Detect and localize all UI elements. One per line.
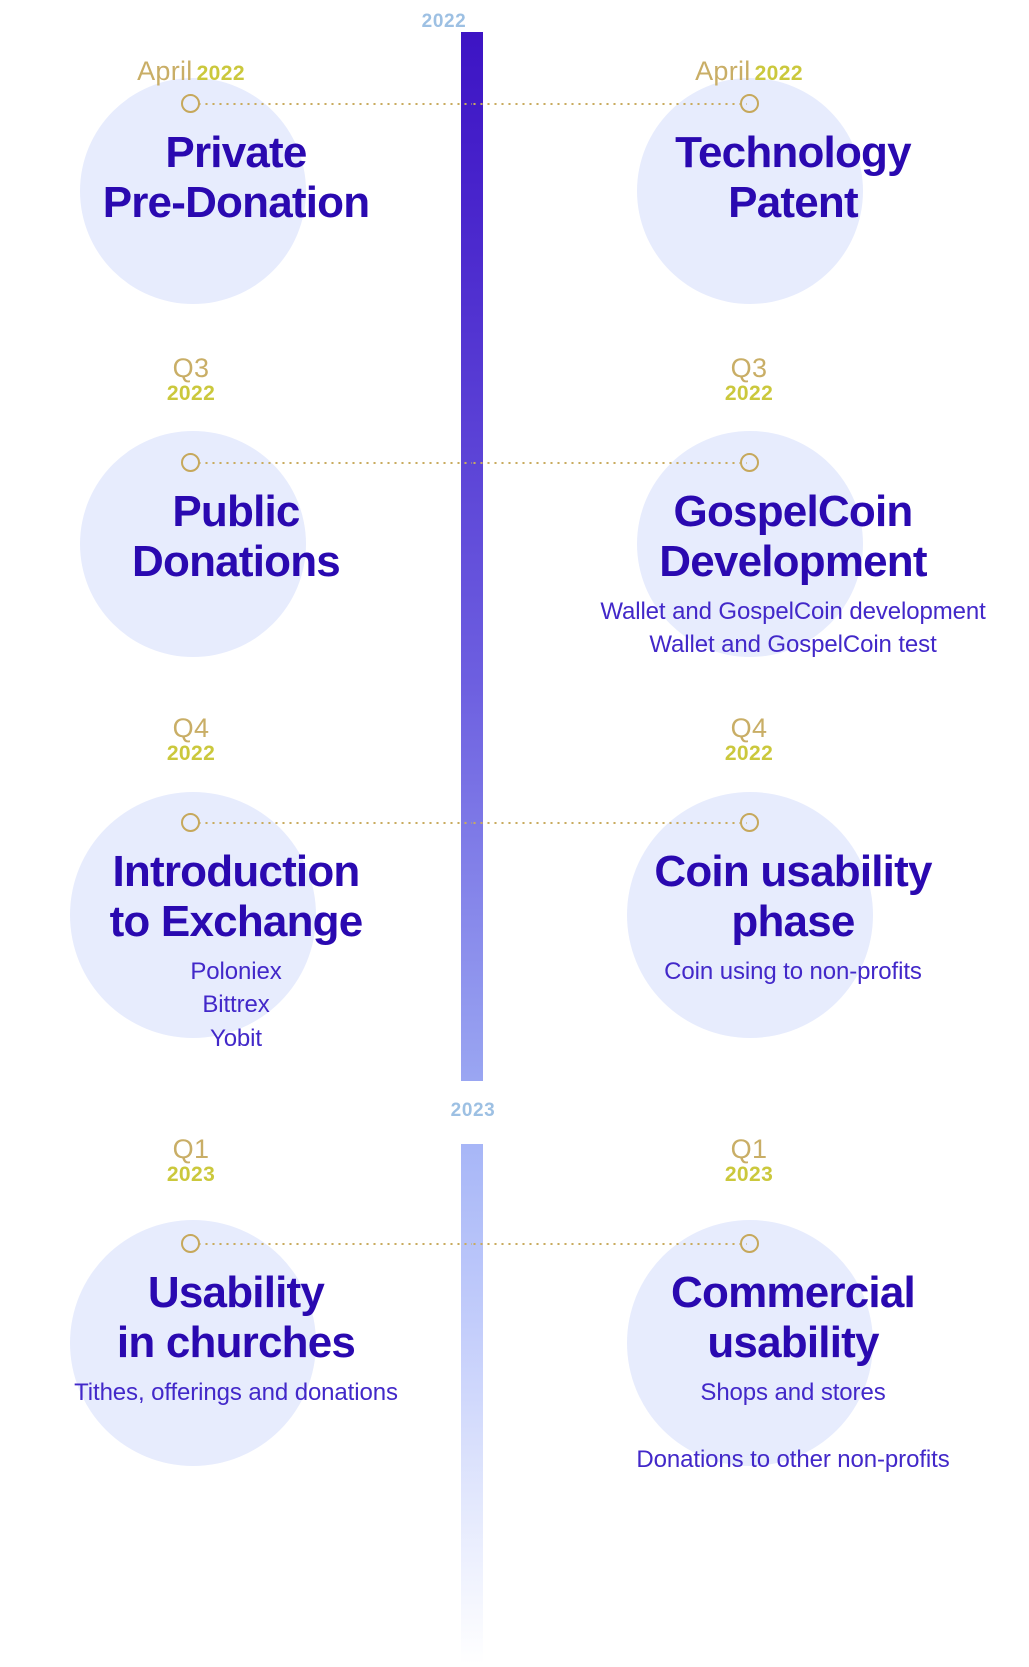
milestone-title: Usability in churches <box>0 1268 472 1368</box>
roadmap-timeline: 2022 2023 April2022 Private Pre-Donation… <box>0 0 1029 1667</box>
milestone-coin-usability-phase[interactable]: Q4 2022 Coin usability phase Coin using … <box>557 720 1029 988</box>
milestone-introduction-to-exchange[interactable]: Q4 2022 Introduction to Exchange Polonie… <box>0 720 472 1055</box>
year-marker-2023: 2023 <box>451 1100 496 1122</box>
milestone-title: GospelCoin Development <box>557 487 1029 587</box>
milestone-details: Poloniex Bittrex Yobit <box>0 955 472 1054</box>
milestone-details: Coin using to non-profits <box>557 955 1029 988</box>
milestone-title: Public Donations <box>0 487 472 587</box>
milestone-usability-in-churches[interactable]: Q1 2023 Usability in churches Tithes, of… <box>0 1130 472 1409</box>
milestone-technology-patent[interactable]: April2022 Technology Patent <box>557 0 1029 236</box>
milestone-title: Technology Patent <box>557 128 1029 228</box>
milestone-commercial-usability[interactable]: Q1 2023 Commercial usability Shops and s… <box>557 1130 1029 1476</box>
milestone-gospelcoin-development[interactable]: Q3 2022 GospelCoin Development Wallet an… <box>557 330 1029 662</box>
milestone-private-pre-donation[interactable]: April2022 Private Pre-Donation <box>0 0 472 236</box>
milestone-details: Tithes, offerings and donations <box>0 1376 472 1409</box>
milestone-details: Wallet and GospelCoin development Wallet… <box>557 595 1029 661</box>
milestone-title: Introduction to Exchange <box>0 847 472 947</box>
milestone-details: Shops and stores Donations to other non-… <box>557 1376 1029 1475</box>
milestone-row-2: Q3 2022 Public Donations Q3 2022 GospelC… <box>0 330 1029 690</box>
milestone-public-donations[interactable]: Q3 2022 Public Donations <box>0 330 472 595</box>
milestone-row-4: Q1 2023 Usability in churches Tithes, of… <box>0 1130 1029 1530</box>
milestone-row-1: April2022 Private Pre-Donation April2022… <box>0 0 1029 330</box>
milestone-row-3: Q4 2022 Introduction to Exchange Polonie… <box>0 720 1029 1080</box>
milestone-title: Coin usability phase <box>557 847 1029 947</box>
milestone-title: Private Pre-Donation <box>0 128 472 228</box>
milestone-title: Commercial usability <box>557 1268 1029 1368</box>
